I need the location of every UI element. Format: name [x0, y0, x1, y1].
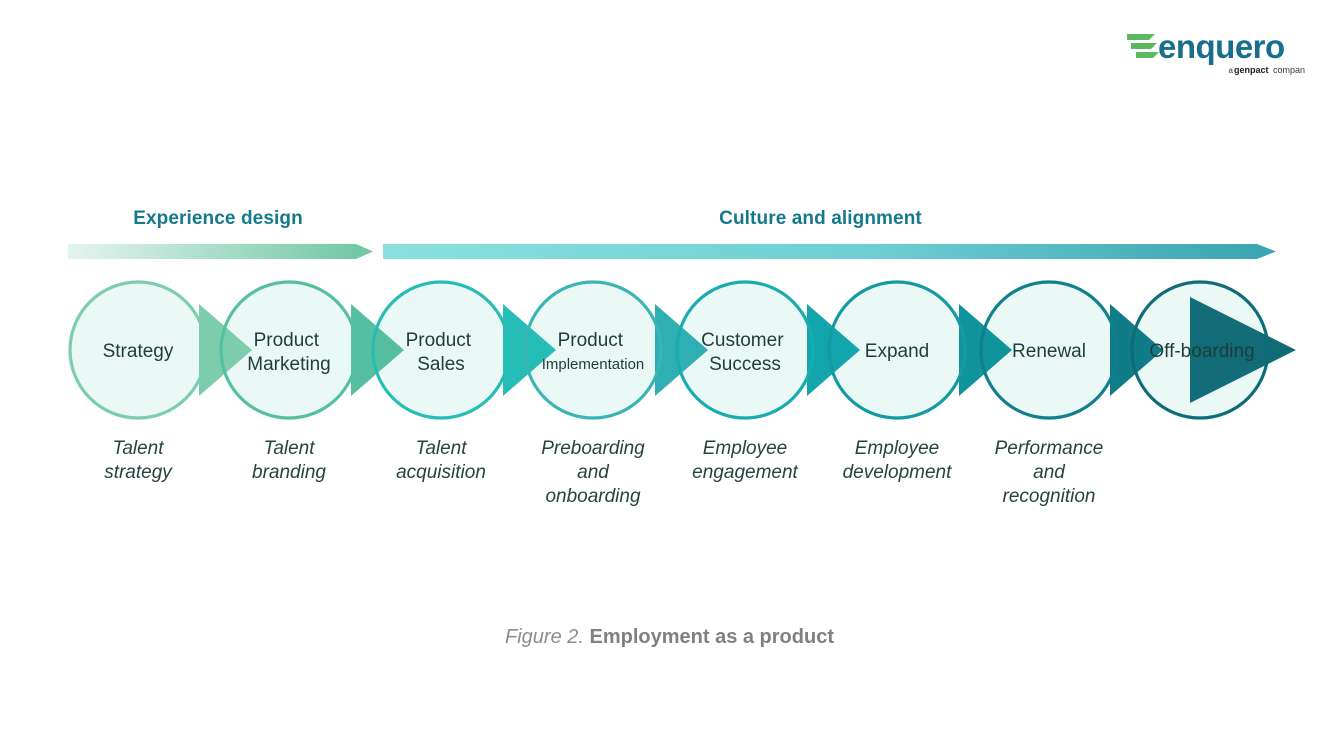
step-caption-1: Talent strategy — [58, 437, 218, 485]
logo-tagline-suffix: company — [1273, 65, 1305, 75]
logo-tagline-prefix: a — [1229, 66, 1234, 75]
step-caption-5: Employee engagement — [660, 437, 830, 485]
step-caption-7: Performance and recognition — [964, 437, 1134, 509]
phase-bar-culture-and-alignment — [383, 242, 1276, 261]
phase-title-culture-and-alignment: Culture and alignment — [383, 208, 1258, 230]
figure-number: Figure 2. — [505, 626, 584, 648]
enquero-logo: enquero a genpact company — [1125, 28, 1305, 80]
figure-title: Employment as a product — [590, 626, 835, 648]
phase-bar-experience-design — [68, 242, 373, 261]
step-caption-4: Preboarding and onboarding — [508, 437, 678, 509]
phase-title-experience-design: Experience design — [68, 208, 368, 230]
step-caption-6: Employee development — [812, 437, 982, 485]
flow-label-6: Expand — [865, 341, 929, 362]
flow-label-1: Strategy — [103, 341, 174, 362]
logo-tagline-brand: genpact — [1234, 65, 1269, 75]
logo-wordmark: enquero — [1158, 28, 1285, 65]
employment-flow-diagram: Strategy Product Marketing Product Sales… — [60, 272, 1305, 432]
logo-chevron-mark — [1127, 34, 1159, 58]
step-caption-2: Talent branding — [209, 437, 369, 485]
step-caption-3: Talent acquisition — [361, 437, 521, 485]
flow-label-8: Off-boarding — [1149, 341, 1254, 362]
figure-caption: Figure 2. Employment as a product — [0, 626, 1339, 649]
flow-label-7: Renewal — [1012, 341, 1086, 362]
